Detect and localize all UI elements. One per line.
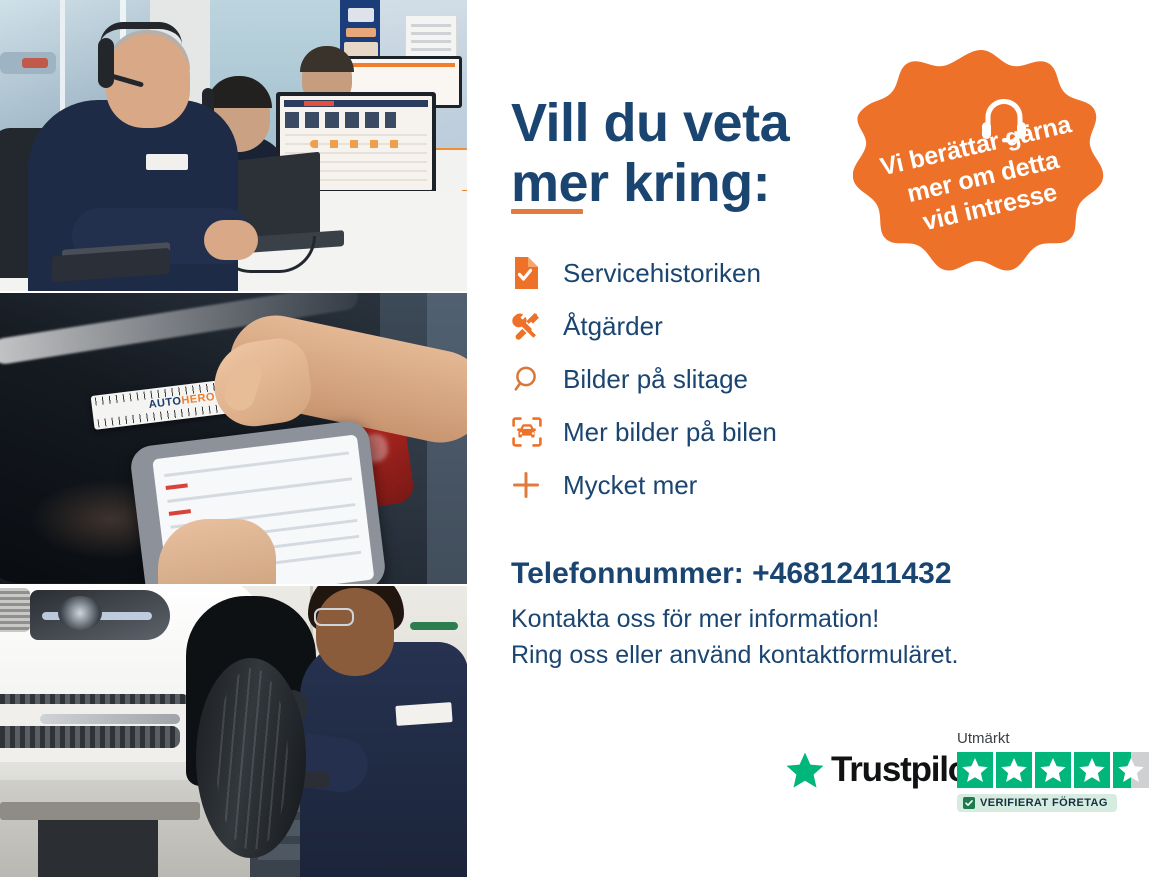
star-4 xyxy=(1074,752,1110,788)
feature-item-mer-bilder-pa-bilen: Mer bilder på bilen xyxy=(511,405,1071,458)
content-panel: Vill du veta mer kring: Vi berättar gärn… xyxy=(467,0,1170,877)
promo-page: AUTOHERO xyxy=(0,0,1170,877)
phone-number[interactable]: +46812411432 xyxy=(752,557,951,590)
feature-label: Bilder på slitage xyxy=(563,366,748,392)
feature-label: Mycket mer xyxy=(563,472,697,498)
document-check-icon xyxy=(511,257,563,289)
car-scan-icon xyxy=(511,416,563,448)
trustpilot-stars xyxy=(957,752,1149,788)
phone-label: Telefonnummer: xyxy=(511,557,744,590)
star-5-half xyxy=(1113,752,1149,788)
contact-line-2: Ring oss eller använd kontaktformuläret. xyxy=(511,641,958,670)
feature-item-mycket-mer: Mycket mer xyxy=(511,458,1071,511)
call-center-agent-photo xyxy=(0,0,467,291)
verified-company-badge: VERIFIERAT FÖRETAG xyxy=(957,794,1117,812)
contact-line-1: Kontakta oss för mer information! xyxy=(511,605,879,634)
trustpilot-logo: Trustpilot xyxy=(785,750,978,790)
star-1 xyxy=(957,752,993,788)
feature-label: Åtgärder xyxy=(563,313,663,339)
feature-label: Servicehistoriken xyxy=(563,260,761,286)
star-3 xyxy=(1035,752,1071,788)
feature-item-atgarder: Åtgärder xyxy=(511,299,1071,352)
plus-icon xyxy=(511,470,563,500)
verified-company-label: VERIFIERAT FÖRETAG xyxy=(980,797,1108,809)
vehicle-inspection-photo: AUTOHERO xyxy=(0,293,467,584)
feature-list: Servicehistoriken xyxy=(511,246,1071,511)
feature-item-servicehistoriken: Servicehistoriken xyxy=(511,246,1071,299)
trustpilot-star-icon xyxy=(785,751,825,789)
magnifier-icon xyxy=(511,364,563,394)
page-title-line-1: Vill du veta xyxy=(511,93,789,153)
photo-column: AUTOHERO xyxy=(0,0,467,877)
wrench-screwdriver-icon xyxy=(511,311,563,341)
feature-item-bilder-pa-slitage: Bilder på slitage xyxy=(511,352,1071,405)
title-divider xyxy=(511,209,583,214)
phone-line: Telefonnummer: +46812411432 xyxy=(511,557,952,591)
check-square-icon xyxy=(963,797,975,809)
star-2 xyxy=(996,752,1032,788)
feature-label: Mer bilder på bilen xyxy=(563,419,777,445)
trustpilot-rating-label: Utmärkt xyxy=(957,730,1010,747)
trustpilot-widget[interactable]: Trustpilot Utmärkt VERIFIERAT FÖRETAG xyxy=(785,730,1135,820)
workshop-tire-photo xyxy=(0,586,467,877)
